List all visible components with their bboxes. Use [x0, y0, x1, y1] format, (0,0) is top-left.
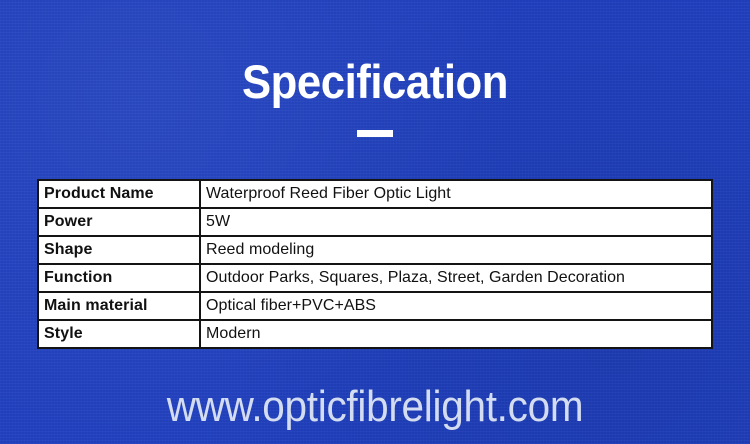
table-row: Main material Optical fiber+PVC+ABS [38, 292, 712, 320]
spec-label: Power [38, 208, 200, 236]
title-divider [357, 130, 393, 137]
spec-value: 5W [200, 208, 712, 236]
spec-value: Outdoor Parks, Squares, Plaza, Street, G… [200, 264, 712, 292]
spec-value: Modern [200, 320, 712, 348]
spec-label: Function [38, 264, 200, 292]
spec-value: Optical fiber+PVC+ABS [200, 292, 712, 320]
table-row: Product Name Waterproof Reed Fiber Optic… [38, 180, 712, 208]
spec-label: Style [38, 320, 200, 348]
table-row: Shape Reed modeling [38, 236, 712, 264]
table-row: Function Outdoor Parks, Squares, Plaza, … [38, 264, 712, 292]
spec-label: Shape [38, 236, 200, 264]
website-url: www.opticfibrelight.com [30, 382, 720, 432]
table-row: Style Modern [38, 320, 712, 348]
page-title: Specification [26, 56, 724, 108]
specification-table: Product Name Waterproof Reed Fiber Optic… [37, 179, 713, 349]
spec-label: Main material [38, 292, 200, 320]
spec-value: Waterproof Reed Fiber Optic Light [200, 180, 712, 208]
product-specification-banner: Specification Product Name Waterproof Re… [0, 0, 750, 444]
spec-value: Reed modeling [200, 236, 712, 264]
spec-label: Product Name [38, 180, 200, 208]
table-row: Power 5W [38, 208, 712, 236]
